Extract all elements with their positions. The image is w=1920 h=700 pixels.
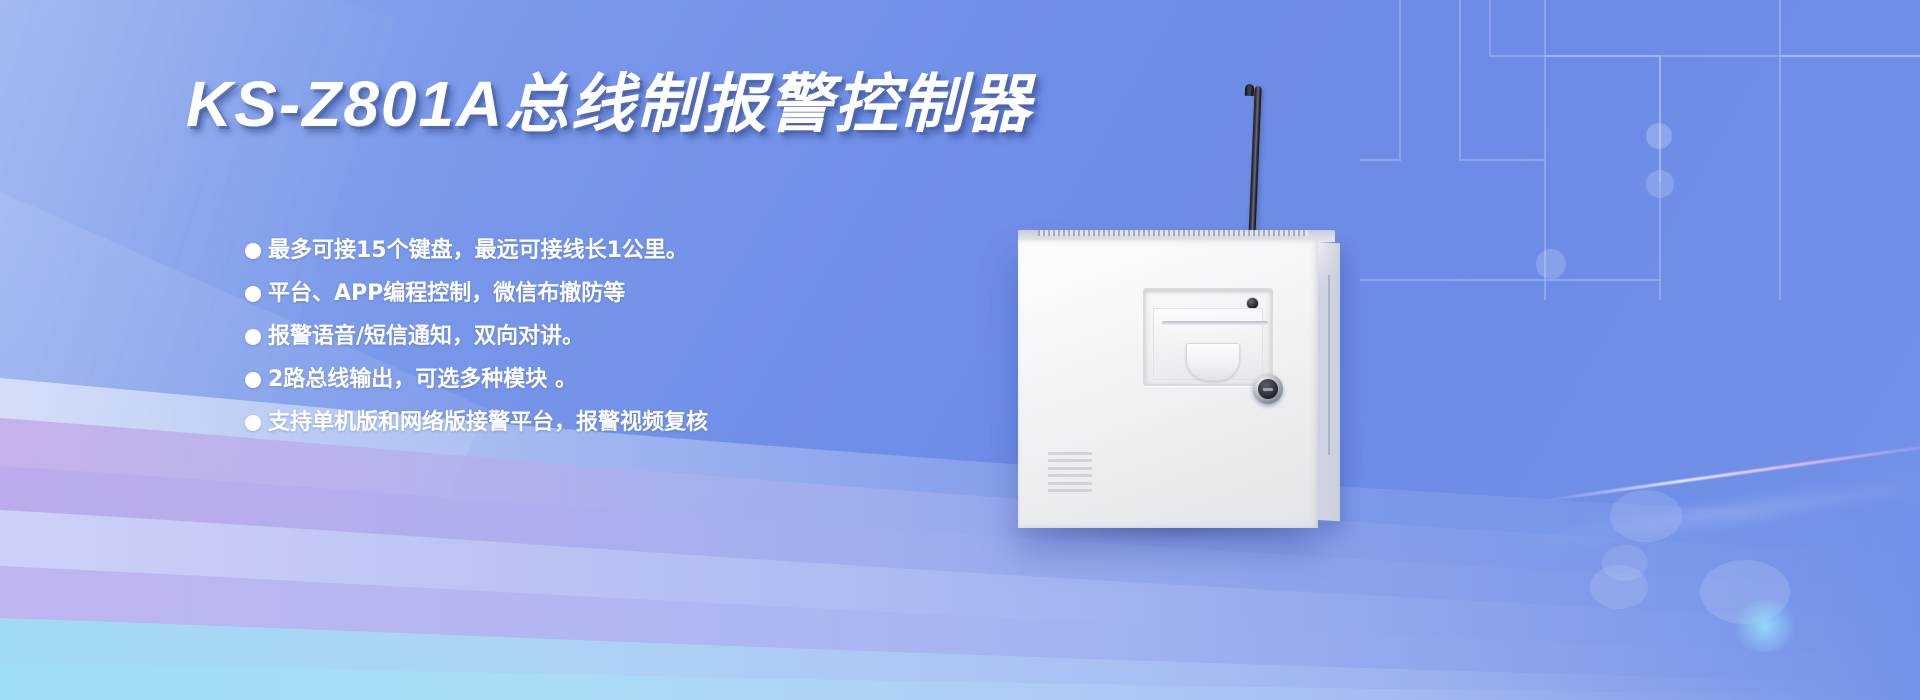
feature-text: 平台、APP编程控制，微信布撤防等 <box>268 279 625 309</box>
list-item: 平台、APP编程控制，微信布撤防等 <box>245 279 1005 309</box>
vent-slot <box>1048 474 1092 477</box>
lock-keyhole-icon <box>1263 388 1273 391</box>
bokeh-circle-4 <box>1700 560 1790 624</box>
vent-slot <box>1048 482 1092 485</box>
bokeh-circle-3 <box>1610 490 1682 542</box>
bullet-dot-icon <box>245 329 261 345</box>
lock-core <box>1258 379 1278 399</box>
feature-text: 报警语音/短信通知，双向对讲。 <box>268 322 584 352</box>
list-item: 报警语音/短信通知，双向对讲。 <box>245 322 1005 352</box>
module-slot <box>1162 321 1268 325</box>
module-window <box>1143 288 1273 386</box>
module-handle <box>1186 343 1240 381</box>
list-item: 最多可接15个键盘，最远可接线长1公里。 <box>245 236 1005 266</box>
key-lock <box>1253 374 1283 404</box>
product-image <box>1000 60 1620 620</box>
bullet-dot-icon <box>245 243 261 259</box>
bullet-dot-icon <box>245 372 261 388</box>
bullet-dot-icon <box>245 415 261 431</box>
list-item: 支持单机版和网络版接警平台，报警视频复核 <box>245 408 1005 438</box>
enclosure-side-seam <box>1328 275 1330 455</box>
bokeh-glow <box>1730 600 1800 652</box>
ventilation-slots <box>1048 452 1092 492</box>
vent-slot <box>1048 489 1092 492</box>
antenna-tip <box>1245 84 1254 96</box>
product-banner: KS-Z801A总线制报警控制器 最多可接15个键盘，最远可接线长1公里。 平台… <box>0 0 1920 700</box>
feature-text: 最多可接15个键盘，最远可接线长1公里。 <box>268 236 688 266</box>
vent-slot <box>1048 459 1092 462</box>
bullet-dot-icon <box>245 286 261 302</box>
module-inner-panel <box>1153 308 1263 380</box>
bokeh-circle-1 <box>1646 123 1672 149</box>
vent-slot <box>1048 452 1092 455</box>
list-item: 2路总线输出，可选多种模块 。 <box>245 365 1005 395</box>
top-vent-slots <box>1038 230 1308 236</box>
feature-text: 2路总线输出，可选多种模块 。 <box>268 365 577 395</box>
feature-text: 支持单机版和网络版接警平台，报警视频复核 <box>268 408 708 438</box>
banner-title: KS-Z801A总线制报警控制器 <box>186 72 1032 136</box>
vent-slot <box>1048 467 1092 470</box>
feature-list: 最多可接15个键盘，最远可接线长1公里。 平台、APP编程控制，微信布撤防等 报… <box>245 236 1005 438</box>
